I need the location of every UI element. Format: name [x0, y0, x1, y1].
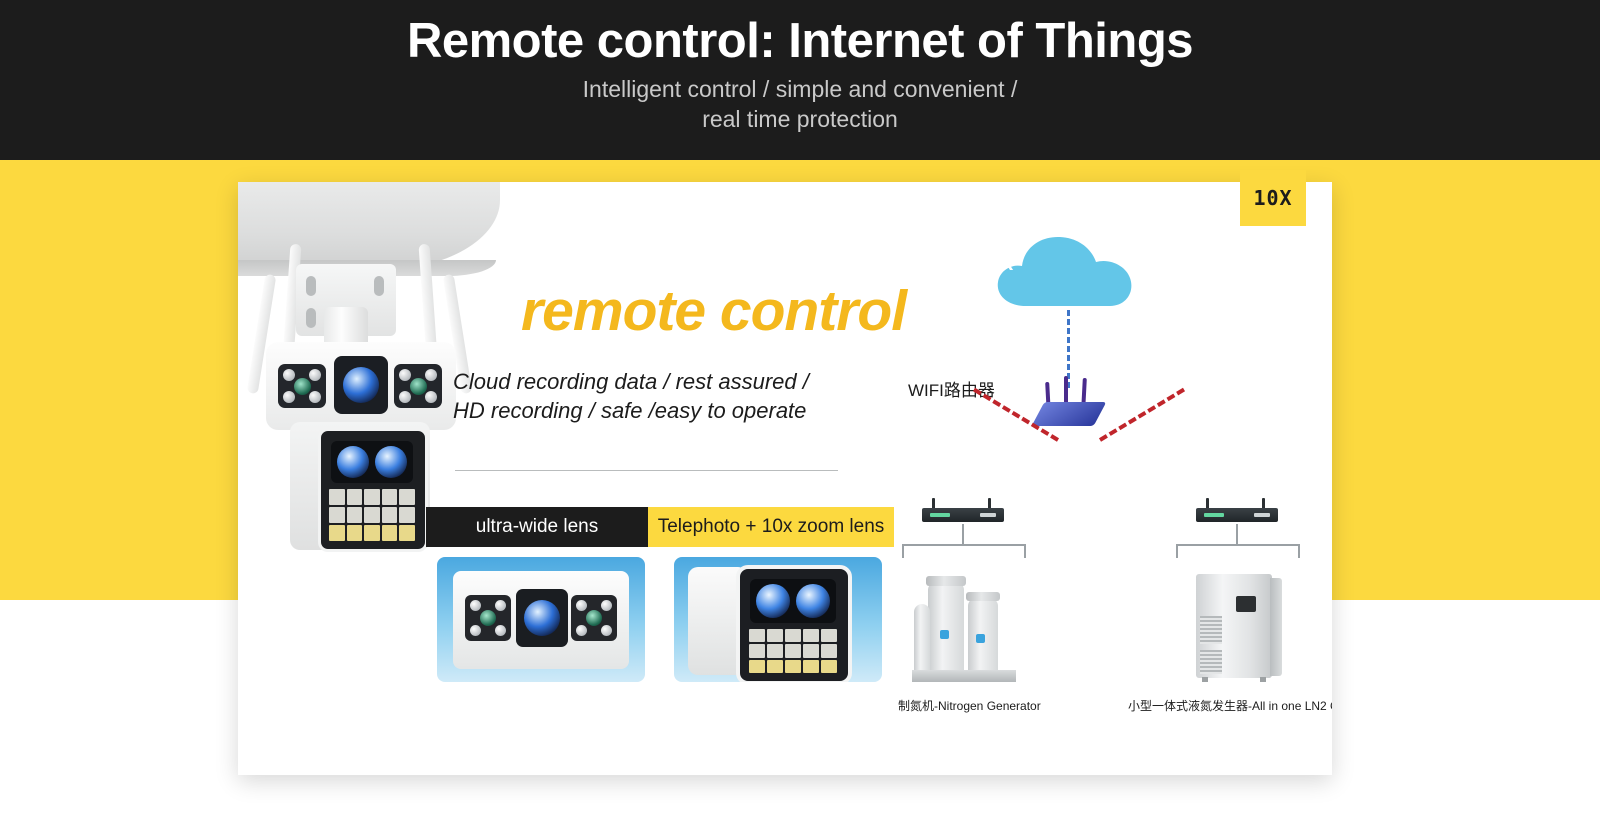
ln2-generator-art: [1190, 570, 1286, 682]
lens-glass: [796, 584, 830, 618]
led-cell: [382, 507, 398, 523]
ptz-front-panel: [736, 565, 852, 682]
led-cell: [803, 660, 819, 673]
ir-led: [425, 369, 437, 381]
zoom-badge: 10X: [1240, 170, 1306, 226]
router-status-leds: [1204, 513, 1224, 517]
bracket-hole: [306, 308, 316, 328]
ir-led: [470, 625, 481, 636]
led-cell: [749, 660, 765, 673]
lens-glass: [756, 584, 790, 618]
lens-glass: [337, 446, 369, 478]
dual-lens-module: [331, 441, 413, 483]
led-cell: [821, 629, 837, 642]
cloud-label-line-1: CLOUD: [898, 232, 1050, 254]
led-cell: [821, 644, 837, 657]
bracket-hole: [306, 276, 316, 296]
router-to-node-link-right: [1099, 388, 1185, 442]
led-cell: [821, 660, 837, 673]
cabinet-foot: [1202, 677, 1208, 682]
connector-stem-right: [1236, 524, 1238, 546]
control-panel: [1236, 596, 1256, 612]
connector-clamp-right: [1176, 544, 1300, 558]
dual-lens-module: [750, 579, 836, 623]
lens-glass: [410, 378, 427, 395]
ir-led: [495, 625, 506, 636]
ir-led: [576, 625, 587, 636]
brand-mark: [976, 634, 985, 643]
led-cell: [749, 629, 765, 642]
led-cell: [767, 660, 783, 673]
led-cell: [364, 525, 380, 541]
router-port-leds: [980, 513, 996, 517]
cabinet-vent: [1200, 650, 1222, 674]
cloud-server-label: CLOUD SERVER: [898, 232, 1050, 276]
camera-product-image: [238, 182, 500, 552]
cloud-label-line-2: SERVER: [898, 254, 1050, 276]
nitrogen-generator-label: 制氮机-Nitrogen Generator: [898, 697, 1041, 714]
connector-clamp-left: [902, 544, 1026, 558]
ir-lens-module: [278, 364, 326, 408]
camera-top-housing: [266, 342, 456, 430]
lens-glass: [586, 610, 602, 626]
telephoto-lens-photo: [674, 557, 882, 682]
ir-lens-module: [571, 595, 617, 641]
gas-tank: [928, 582, 964, 674]
lens-glass: [294, 378, 311, 395]
cabinet-side-panel: [1270, 578, 1282, 676]
center-lens-module: [334, 356, 388, 414]
led-cell: [364, 507, 380, 523]
headline-remote-control: remote control: [521, 278, 906, 344]
cabinet-foot: [1260, 677, 1266, 682]
led-cell: [803, 644, 819, 657]
led-flood-grid: [329, 489, 415, 541]
tank-cap: [926, 576, 966, 586]
page-title: Remote control: Internet of Things: [407, 16, 1193, 67]
section-divider: [455, 470, 838, 471]
page-subtitle-line-2: real time protection: [583, 105, 1018, 134]
ptz-front-panel: [318, 428, 428, 552]
nitrogen-generator-art: [910, 570, 1018, 682]
led-cell: [382, 525, 398, 541]
led-cell: [399, 507, 415, 523]
router-port-leds: [1254, 513, 1270, 517]
led-cell: [399, 489, 415, 505]
ir-led: [576, 600, 587, 611]
ln2-generator-label: 小型一体式液氮发生器-All in one LN2 Generator: [1128, 697, 1332, 714]
led-cell: [347, 507, 363, 523]
router-status-leds: [930, 513, 950, 517]
led-flood-grid: [749, 629, 837, 673]
lens-glass: [480, 610, 496, 626]
led-cell: [785, 629, 801, 642]
edge-router-icon-right: [1196, 498, 1278, 524]
connector-stem-left: [962, 524, 964, 546]
cabinet-vent: [1200, 616, 1222, 644]
page-header: Remote control: Internet of Things Intel…: [0, 0, 1600, 160]
equipment-base-frame: [912, 670, 1016, 682]
led-cell: [785, 660, 801, 673]
lens-bar-ultra-wide: ultra-wide lens: [426, 507, 648, 547]
ceiling-eave-shape: [238, 182, 500, 270]
led-cell: [785, 644, 801, 657]
edge-router-icon-left: [922, 498, 1004, 524]
content-card: remote control Cloud recording data / re…: [238, 182, 1332, 775]
led-cell: [329, 489, 345, 505]
router-body: [1032, 402, 1107, 426]
ir-led: [601, 600, 612, 611]
page-subtitle-line-1: Intelligent control / simple and conveni…: [583, 75, 1018, 104]
lens-glass: [375, 446, 407, 478]
ir-led: [309, 391, 321, 403]
led-cell: [767, 644, 783, 657]
ir-led: [399, 391, 411, 403]
wifi-router-icon: [1038, 376, 1100, 428]
lens-glass: [343, 367, 379, 403]
camera-body: [453, 571, 629, 669]
lens-bar-telephoto: Telephoto + 10x zoom lens: [648, 507, 894, 547]
led-cell: [347, 489, 363, 505]
bracket-hole: [374, 276, 384, 296]
ir-lens-module: [465, 595, 511, 641]
led-cell: [329, 507, 345, 523]
led-cell: [399, 525, 415, 541]
ir-led: [283, 369, 295, 381]
ir-led: [470, 600, 481, 611]
gas-tank: [914, 604, 930, 674]
led-cell: [803, 629, 819, 642]
ir-led: [309, 369, 321, 381]
led-cell: [767, 629, 783, 642]
camera-ptz-head: [290, 422, 430, 550]
ultra-wide-lens-photo: [437, 557, 645, 682]
wifi-router-label: WIFI路由器: [908, 376, 995, 401]
ir-led: [601, 625, 612, 636]
slide-canvas: Remote control: Internet of Things Intel…: [0, 0, 1600, 826]
ir-led: [399, 369, 411, 381]
ir-led: [425, 391, 437, 403]
center-lens-module: [516, 589, 568, 647]
led-cell: [329, 525, 345, 541]
network-topology-diagram: CLOUD SERVER WIFI路由器: [898, 210, 1328, 720]
led-cell: [347, 525, 363, 541]
led-cell: [749, 644, 765, 657]
page-subtitle: Intelligent control / simple and conveni…: [583, 75, 1018, 134]
lens-glass: [524, 600, 560, 636]
led-cell: [382, 489, 398, 505]
led-cell: [364, 489, 380, 505]
ir-lens-module: [394, 364, 442, 408]
tank-cap: [966, 592, 1000, 601]
ir-led: [283, 391, 295, 403]
feature-description: Cloud recording data / rest assured / HD…: [453, 368, 813, 425]
ir-led: [495, 600, 506, 611]
brand-mark: [940, 630, 949, 639]
